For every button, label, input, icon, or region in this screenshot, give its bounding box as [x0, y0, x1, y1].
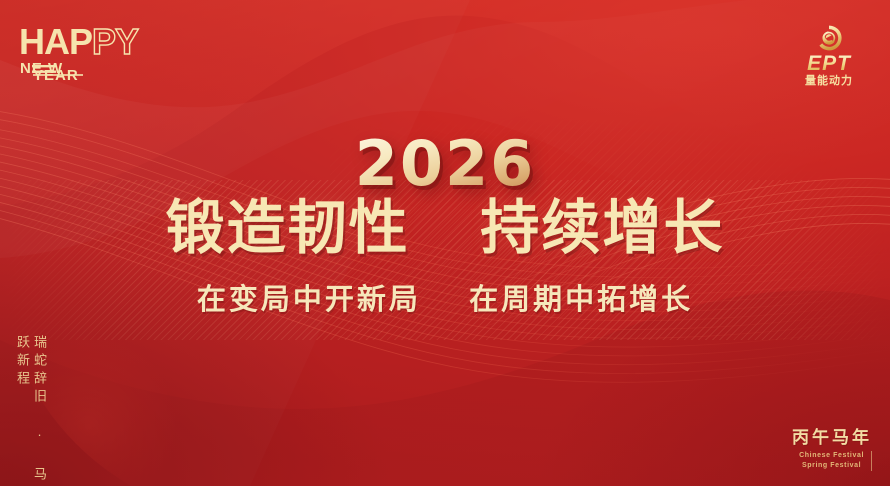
- subtitle-right: 在周期中拓增长: [469, 284, 693, 316]
- happy-new-year-logo: HAPPY HAPPY NE W YEAR HAPPY NE YEAR: [19, 24, 229, 80]
- vertical-couplet: 瑞蛇辞旧 · 马跃新程: [14, 335, 48, 486]
- headline-left: 锻造韧性: [166, 195, 410, 261]
- year-number-text: 2026: [355, 133, 536, 195]
- ept-brand-logo: EPT 量能动力: [786, 24, 872, 86]
- year-number: 2026: [0, 133, 890, 195]
- headline: 锻造韧性 持续增长: [0, 197, 890, 259]
- subtitle-left: 在变局中开新局: [197, 284, 421, 316]
- zodiac-en-line2: Spring Festival: [799, 461, 864, 471]
- zodiac-en-line1: Chinese Festival: [799, 451, 864, 461]
- headline-right: 持续增长: [480, 195, 724, 261]
- ept-chinese-name: 量能动力: [786, 75, 872, 88]
- zodiac-stamp: 丙午马年 Chinese Festival Spring Festival: [792, 427, 872, 472]
- svg-text:YEAR: YEAR: [33, 67, 79, 80]
- ept-emblem-icon: [815, 24, 843, 52]
- ept-wordmark: EPT: [786, 54, 872, 74]
- new-year-poster: HAPPY HAPPY NE W YEAR HAPPY NE YEAR: [0, 0, 890, 486]
- subtitle: 在变局中开新局 在周期中拓增长: [0, 283, 890, 317]
- zodiac-en-wrap: Chinese Festival Spring Festival: [799, 451, 872, 471]
- zodiac-year-label: 丙午马年: [792, 427, 872, 448]
